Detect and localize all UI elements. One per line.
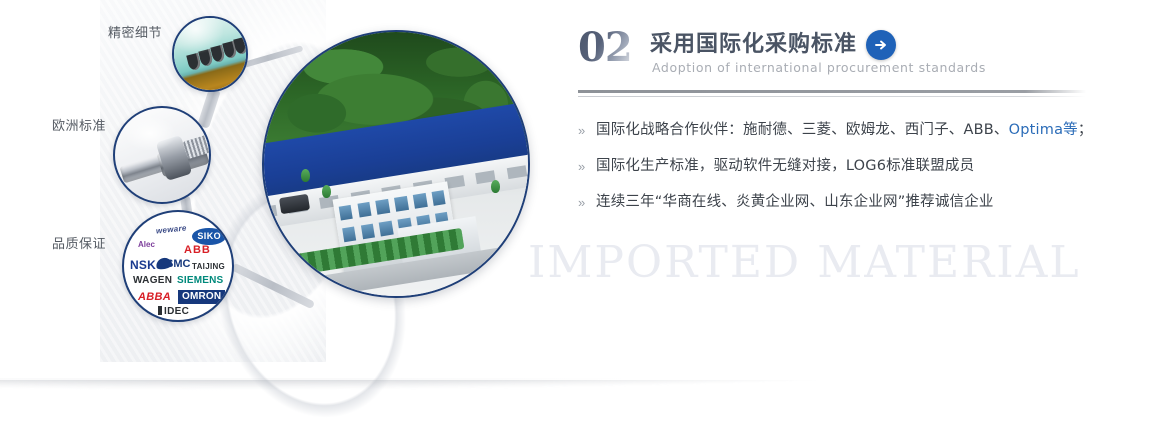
list-item-text-main: 国际化战略合作伙伴：施耐德、三菱、欧姆龙、西门子、ABB、	[596, 122, 1009, 138]
list-item-text: 国际化生产标准，驱动软件无缝对接，LOG6标准联盟成员	[596, 157, 974, 176]
chevron-double-right-icon: »	[578, 121, 596, 140]
list-item: » 国际化生产标准，驱动软件无缝对接，LOG6标准联盟成员	[578, 157, 1090, 176]
feature-list: » 国际化战略合作伙伴：施耐德、三菱、欧姆龙、西门子、ABB、Optima等； …	[578, 121, 1090, 212]
tree-shrub	[491, 180, 500, 193]
logo-siko: SIKO	[192, 228, 226, 245]
photo-highlight	[172, 16, 224, 54]
page-subtitle: Adoption of international procurement st…	[652, 60, 986, 75]
logo-nsk: NSK	[130, 259, 156, 271]
photo-highlight	[124, 116, 176, 152]
watermark-text: IMPORTED MATERIAL	[528, 237, 1081, 288]
logo-idec: IDEC	[158, 306, 189, 317]
logo-taijing: TAIJING	[192, 263, 225, 271]
logo-abba: ABBA	[138, 292, 171, 303]
logo-smc: SMC	[166, 259, 190, 270]
logo-weware: weware	[156, 224, 187, 235]
list-item-text: 国际化战略合作伙伴：施耐德、三菱、欧姆龙、西门子、ABB、Optima等；	[596, 121, 1093, 140]
list-item-text-tail: ；	[1078, 122, 1093, 138]
tree-shrub	[301, 169, 310, 182]
promo-banner: 精密细节 欧洲标准 品质保证 weware SIKO Alec ABB NSK …	[0, 0, 1150, 430]
section-number: 02	[578, 26, 632, 70]
section-header: 02 采用国际化采购标准 Adoption of international p…	[578, 24, 1090, 88]
page-title: 采用国际化采购标准	[650, 26, 857, 58]
brand-logos-photo: weware SIKO Alec ABB NSK SMC TAIJING WAG…	[122, 210, 234, 322]
logo-siemens: SIEMENS	[177, 276, 223, 286]
header-divider	[578, 90, 1086, 97]
logo-abb: ABB	[184, 245, 211, 256]
tree-shrub	[322, 185, 331, 198]
logo-wagen: WAGEN	[133, 276, 172, 286]
factory-building-photo	[262, 30, 530, 298]
collage-label-precision: 精密细节	[108, 22, 162, 41]
list-item: » 连续三年“华商在线、炎黄企业网、山东企业网”推荐诚信企业	[578, 193, 1090, 212]
ball-screw-photo	[113, 106, 211, 204]
list-item-highlight: Optima等	[1009, 122, 1078, 138]
arrow-right-icon[interactable]	[866, 30, 896, 60]
chevron-double-right-icon: »	[578, 157, 596, 176]
bottom-shadow-sweep	[0, 378, 1150, 430]
logo-alec: Alec	[138, 241, 155, 249]
chevron-double-right-icon: »	[578, 193, 596, 212]
list-item: » 国际化战略合作伙伴：施耐德、三菱、欧姆龙、西门子、ABB、Optima等；	[578, 121, 1090, 140]
logo-omron: OMRON	[178, 290, 225, 304]
collage-label-quality-assurance: 品质保证	[52, 233, 106, 252]
divider-thin-line	[578, 96, 1086, 97]
divider-thick-line	[578, 90, 1086, 93]
bottom-shadow-edge	[0, 380, 1150, 396]
collage-label-european-standard: 欧洲标准	[52, 115, 106, 134]
brand-logo-cluster: weware SIKO Alec ABB NSK SMC TAIJING WAG…	[124, 212, 232, 320]
content-column: 02 采用国际化采购标准 Adoption of international p…	[578, 24, 1090, 229]
list-item-text: 连续三年“华商在线、炎黄企业网、山东企业网”推荐诚信企业	[596, 193, 994, 212]
saw-teeth-closeup-photo	[172, 16, 248, 92]
